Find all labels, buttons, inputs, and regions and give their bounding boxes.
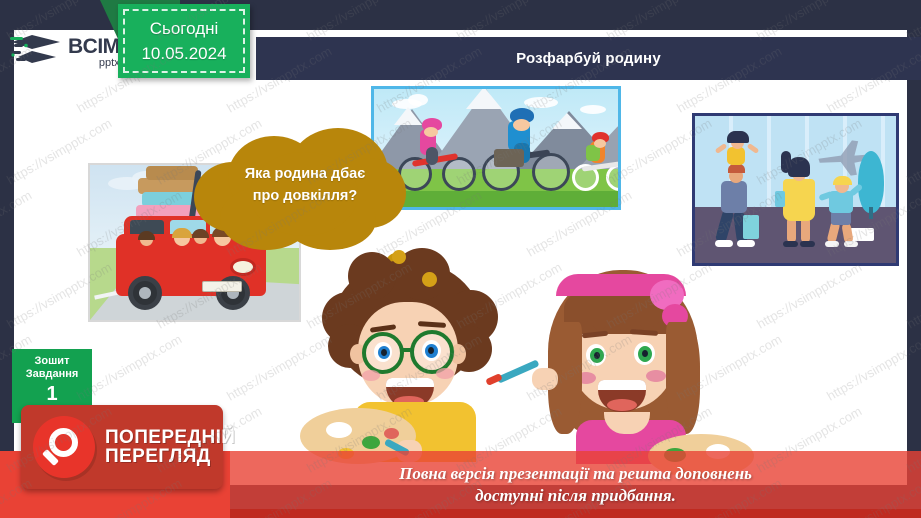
page-title: Розфарбуй родину	[516, 50, 661, 67]
boy-with-glasses	[318, 252, 518, 452]
preview-badge-line-2: ПЕРЕГЛЯД	[105, 447, 235, 466]
purchase-banner-line-1: Повна версія презентації та решта доповн…	[399, 464, 752, 484]
date-badge-value: 10.05.2024	[141, 44, 226, 64]
thought-bubble-line-1: Яка родина дбає	[220, 163, 390, 185]
preview-badge-line-1: ПОПЕРЕДНІЙ	[105, 428, 235, 447]
logo-text: BCIM pptx	[68, 36, 120, 69]
logo-title: BCIM	[68, 36, 120, 57]
date-badge: Сьогодні 10.05.2024	[118, 4, 250, 78]
thought-bubble: Яка родина дбає про довкілля?	[192, 128, 407, 258]
thought-bubble-line-2: про довкілля?	[220, 185, 390, 207]
preview-badge-text: ПОПЕРЕДНІЙ ПЕРЕГЛЯД	[105, 428, 235, 467]
task-box-line-2: Завдання	[26, 368, 79, 380]
preview-badge[interactable]: ПОПЕРЕДНІЙ ПЕРЕГЛЯД	[21, 405, 223, 489]
logo-subtitle: pptx	[68, 58, 120, 69]
task-box-number: 1	[46, 383, 57, 406]
presentation-slide: Розфарбуй родину BCIM ppt	[0, 0, 921, 518]
purchase-banner-line-2: доступні після придбання.	[475, 486, 676, 506]
task-box-line-1: Зошит	[35, 355, 70, 367]
date-badge-label: Сьогодні	[150, 19, 219, 39]
magnifier-icon	[33, 416, 95, 478]
brand-logo: BCIM pptx	[10, 28, 132, 76]
slide-header-bar: Розфарбуй родину	[256, 37, 921, 80]
purchase-banner: Повна версія презентації та решта доповн…	[230, 451, 921, 518]
family-airport-photo	[692, 113, 899, 266]
girl-with-brush	[530, 252, 740, 462]
kids-painting-illustration	[318, 252, 738, 467]
family-bicycles-photo	[371, 86, 621, 210]
graduation-cap-icon	[10, 31, 64, 73]
thought-bubble-text: Яка родина дбає про довкілля?	[220, 163, 390, 208]
